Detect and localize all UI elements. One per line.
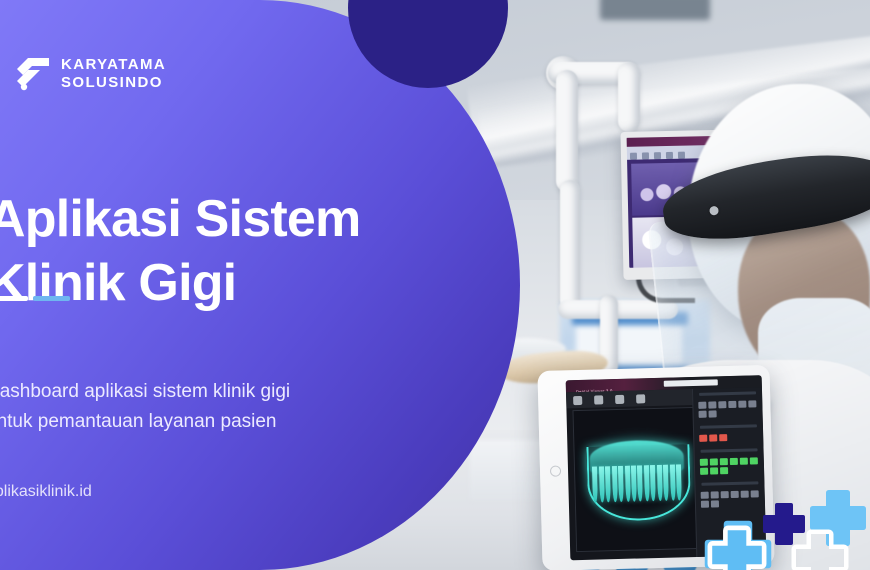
cross-outline-a-icon: [706, 524, 768, 570]
dental-teeth-render: [592, 464, 682, 503]
brand-lockup: KARYATAMASOLUSINDO: [16, 56, 166, 92]
divider-white: [0, 296, 28, 301]
tablet-toolbar: [566, 389, 700, 408]
tablet-chip-group-green: [695, 453, 764, 479]
website-url: aplikasiklinik.id: [0, 481, 92, 503]
brand-name-line2: SOLUSINDO: [61, 74, 163, 91]
brand-panel: KARYATAMASOLUSINDO Aplikasi Sistem Klini…: [0, 0, 520, 570]
tablet-chip-group-red: [694, 429, 763, 446]
page-subtitle: Dashboard aplikasi sistem klinik gigi un…: [0, 377, 426, 437]
banner-stage: Dental Viewer 3.0: [0, 0, 870, 570]
equipment-arm-vertical-3: [560, 180, 580, 310]
brand-name: KARYATAMASOLUSINDO: [61, 56, 166, 92]
tablet-chip-group-2: [696, 486, 765, 512]
divider-blue: [33, 296, 70, 301]
tablet-scan-canvas: [572, 407, 701, 552]
brand-name-line1: KARYATAMA: [61, 56, 166, 73]
tablet-home-button: [550, 465, 561, 476]
cross-outline-b-icon: [790, 528, 850, 570]
page-title: Aplikasi Sistem Klinik Gigi: [0, 187, 508, 315]
ceiling-vent: [600, 0, 710, 20]
tablet-app-searchbar: [664, 379, 718, 386]
tablet-chip-group-1: [694, 396, 763, 422]
karyatama-chevron-logo-icon: [16, 57, 50, 91]
equipment-arm-vertical-1: [556, 70, 578, 192]
